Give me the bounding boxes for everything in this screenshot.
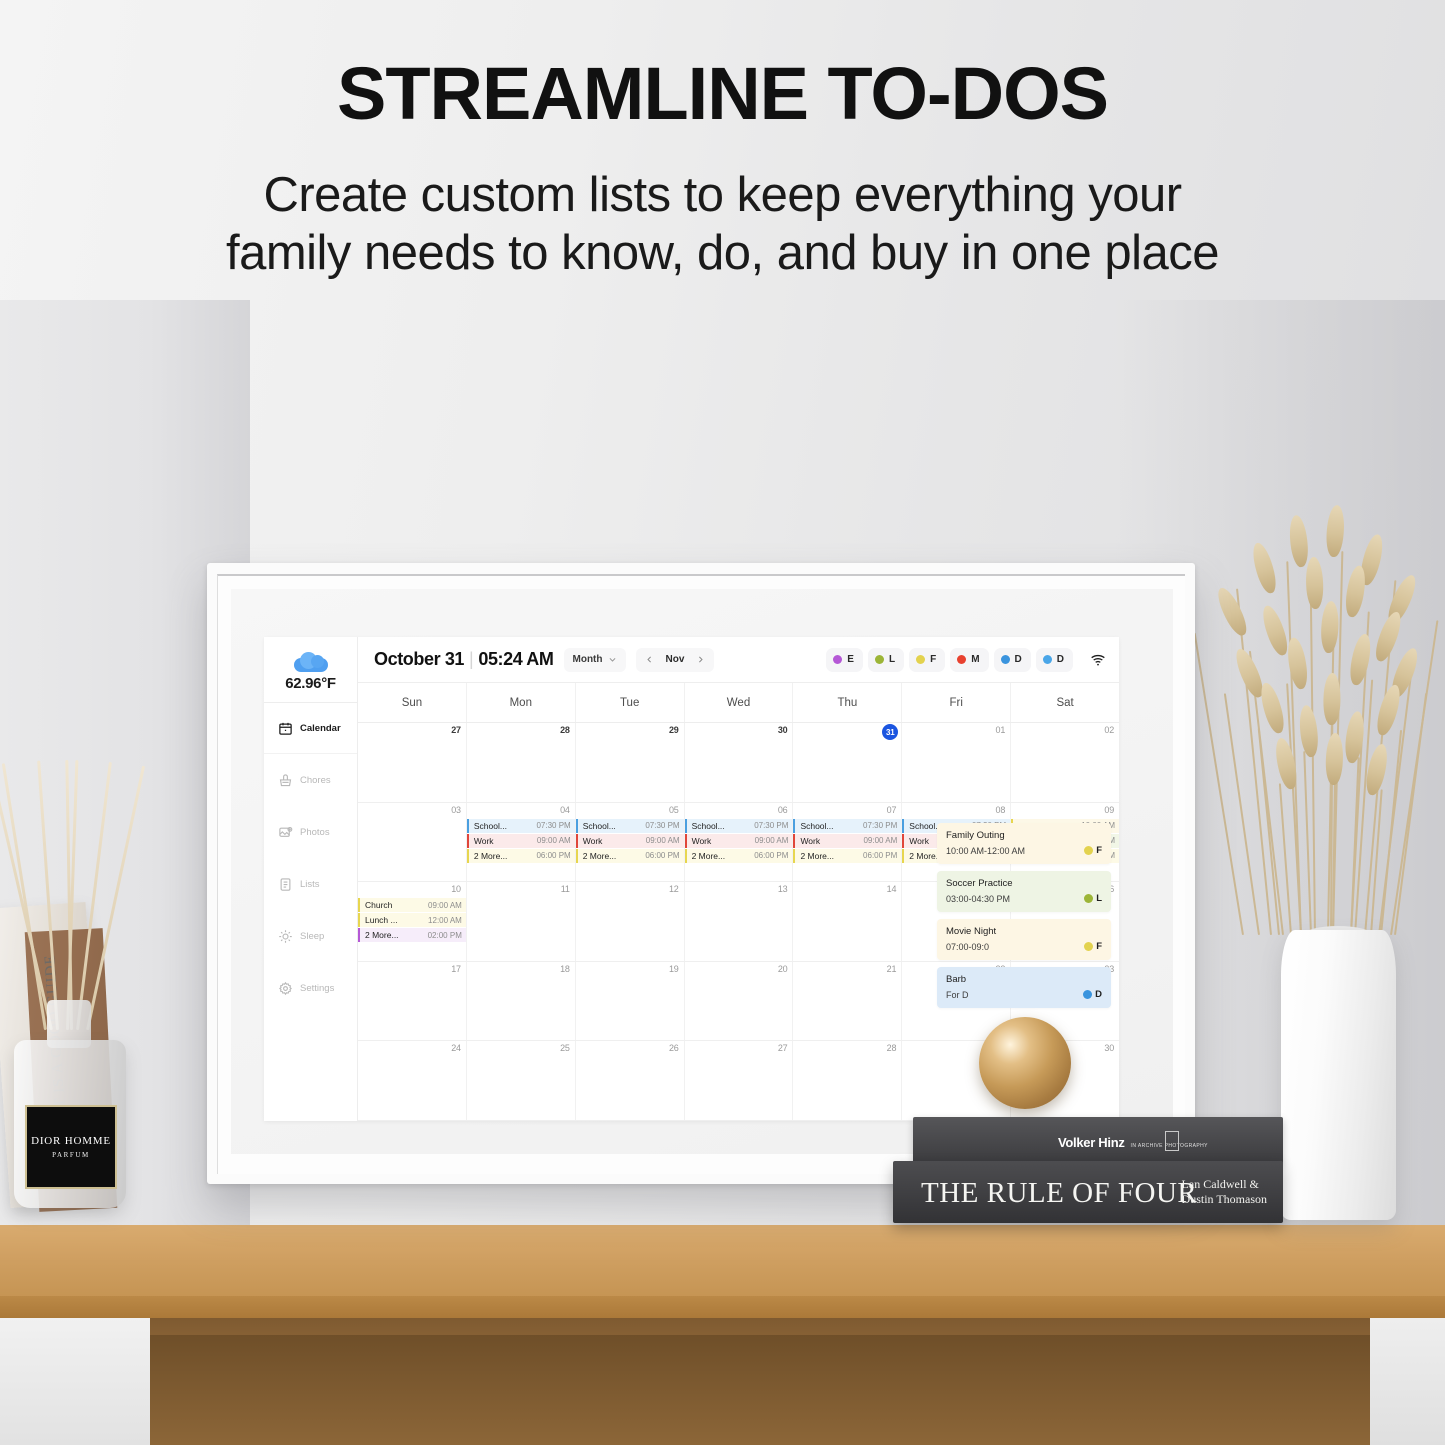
sidebar-item-label: Lists: [300, 879, 320, 890]
pampas-plume: [1320, 601, 1340, 654]
event-card-footer: 07:00-09:0F: [946, 941, 1102, 952]
day-number: 27: [451, 725, 461, 735]
settings-icon: [278, 981, 293, 996]
calendar-event[interactable]: Lunch ...12:00 AM: [358, 913, 466, 927]
day-number: 01: [996, 725, 1006, 735]
diffuser-brand: DIOR HOMME: [31, 1135, 111, 1147]
sidebar-item-calendar[interactable]: Calendar: [264, 702, 357, 754]
pampas-stem: [1303, 751, 1312, 935]
pampas-plume: [1325, 733, 1344, 786]
desk-right-panel: [1370, 1318, 1445, 1445]
event-time: 09:00 AM: [537, 836, 571, 845]
book-rule-of-four: THE RULE OF FOUR Lan Caldwell &Dustin Th…: [893, 1161, 1283, 1223]
day-event-list: School...07:30 PMWork09:00 AM2 More...06…: [576, 819, 684, 863]
event-time: 07:30 PM: [863, 821, 897, 830]
member-initial: D: [1057, 654, 1064, 665]
day-number-today: 31: [882, 724, 898, 740]
calendar-event[interactable]: Work09:00 AM: [685, 834, 793, 848]
day-number: 13: [778, 884, 788, 894]
lists-icon: [278, 877, 293, 892]
calendar-event[interactable]: School...07:30 PM: [576, 819, 684, 833]
member-chip[interactable]: D: [994, 648, 1031, 672]
event-time: 07:30 PM: [536, 821, 570, 830]
event-title: Work: [800, 836, 820, 846]
pampas-stem: [1394, 693, 1427, 935]
day-number: 10: [451, 884, 461, 894]
calendar-day-cell[interactable]: 14: [793, 882, 902, 961]
current-date-time: October 31|05:24 AM: [374, 649, 554, 670]
member-chip[interactable]: M: [950, 648, 988, 672]
temperature-label: 62.96°F: [285, 675, 336, 692]
book-stack: Volker Hinz IN ARCHIVE PHOTOGRAPHY THE R…: [893, 1117, 1283, 1227]
member-chip[interactable]: L: [868, 648, 904, 672]
pampas-plume: [1372, 609, 1406, 664]
book-spine-mark: [1165, 1131, 1179, 1151]
sleep-icon: [278, 929, 293, 944]
event-card-title: Barb: [946, 974, 1102, 985]
day-number: 08: [996, 805, 1006, 815]
member-initial: E: [847, 654, 854, 665]
subtitle-line-1: Create custom lists to keep everything y…: [0, 167, 1445, 225]
member-color-dot: [875, 655, 884, 664]
event-detail-panel: Family Outing10:00 AM-12:00 AMFSoccer Pr…: [937, 823, 1111, 1008]
view-selector[interactable]: Month: [564, 648, 626, 672]
calendar-day-cell[interactable]: 29: [576, 723, 685, 802]
calendar-day-cell[interactable]: 11: [467, 882, 576, 961]
pampas-plume: [1257, 681, 1288, 736]
page-subtitle: Create custom lists to keep everything y…: [0, 167, 1445, 283]
pampas-plume: [1249, 541, 1280, 596]
weekday-header-row: SunMonTueWedThuFriSat: [358, 683, 1119, 723]
calendar-event[interactable]: 2 More...06:00 PM: [467, 849, 575, 863]
calendar-event[interactable]: School...07:30 PM: [793, 819, 901, 833]
day-number: 24: [451, 1043, 461, 1053]
member-color-dot: [1043, 655, 1052, 664]
event-title: 2 More...: [365, 930, 399, 940]
member-color-dot: [957, 655, 966, 664]
calendar-day-cell[interactable]: 26: [576, 1041, 685, 1120]
date-time-separator: |: [469, 649, 473, 669]
day-number: 04: [560, 805, 570, 815]
event-card-footer: For DD: [946, 989, 1102, 1000]
event-time: 06:00 PM: [536, 851, 570, 860]
event-title: Work: [474, 836, 494, 846]
book-bottom-authors: Lan Caldwell &Dustin Thomason: [1182, 1177, 1267, 1207]
calendar-day-cell[interactable]: 07School...07:30 PMWork09:00 AM2 More...…: [793, 803, 902, 882]
calendar-event[interactable]: Work09:00 AM: [793, 834, 901, 848]
weekday-header: Tue: [576, 683, 685, 722]
event-card-footer: 03:00-04:30 PML: [946, 893, 1102, 904]
calendar-day-cell[interactable]: 06School...07:30 PMWork09:00 AM2 More...…: [685, 803, 794, 882]
current-date: October 31: [374, 649, 464, 669]
event-time: 06:00 PM: [645, 851, 679, 860]
event-card-member: F: [1084, 941, 1102, 952]
day-number: 20: [778, 964, 788, 974]
event-card[interactable]: BarbFor DD: [937, 967, 1111, 1008]
member-color-dot: [1084, 894, 1093, 903]
event-title: 2 More...: [800, 851, 834, 861]
calendar-day-cell[interactable]: 02: [1011, 723, 1119, 802]
book-volker-hinz: Volker Hinz IN ARCHIVE PHOTOGRAPHY: [913, 1117, 1283, 1165]
member-color-dot: [1001, 655, 1010, 664]
calendar-day-cell[interactable]: 28: [467, 723, 576, 802]
chevron-right-icon: [696, 655, 705, 664]
pampas-plume: [1259, 603, 1292, 658]
event-time: 09:00 AM: [755, 836, 789, 845]
calendar-day-cell[interactable]: 12: [576, 882, 685, 961]
event-card-title: Family Outing: [946, 830, 1102, 841]
pampas-stem: [1236, 589, 1272, 936]
event-title: Work: [909, 836, 929, 846]
event-title: Work: [692, 836, 712, 846]
sidebar-item-label: Calendar: [300, 723, 341, 734]
day-number: 30: [1104, 1043, 1114, 1053]
event-card-member: D: [1083, 989, 1102, 1000]
event-card[interactable]: Soccer Practice03:00-04:30 PML: [937, 871, 1111, 912]
calendar-day-cell[interactable]: 31: [793, 723, 902, 802]
calendar-day-cell[interactable]: 17: [358, 962, 467, 1041]
member-color-dot: [1084, 846, 1093, 855]
calendar-week-row: 27282930310102: [358, 723, 1119, 803]
calendar-day-cell[interactable]: 05School...07:30 PMWork09:00 AM2 More...…: [576, 803, 685, 882]
event-card-time: 10:00 AM-12:00 AM: [946, 846, 1025, 856]
sidebar-item-lists[interactable]: Lists: [264, 858, 357, 910]
white-vase: [1281, 930, 1396, 1220]
day-number: 28: [560, 725, 570, 735]
member-color-dot: [1083, 990, 1092, 999]
wifi-icon[interactable]: [1089, 652, 1107, 668]
event-time: 09:00 AM: [863, 836, 897, 845]
calendar-event[interactable]: 2 More...06:00 PM: [793, 849, 901, 863]
day-number: 19: [669, 964, 679, 974]
day-number: 12: [669, 884, 679, 894]
calendar-day-cell[interactable]: 01: [902, 723, 1011, 802]
event-card[interactable]: Family Outing10:00 AM-12:00 AMF: [937, 823, 1111, 864]
event-time: 06:00 PM: [754, 851, 788, 860]
event-title: 2 More...: [583, 851, 617, 861]
day-number: 18: [560, 964, 570, 974]
sidebar-item-chores[interactable]: Chores: [264, 754, 357, 806]
event-card[interactable]: Movie Night07:00-09:0F: [937, 919, 1111, 960]
pampas-plume: [1325, 505, 1346, 558]
diffuser-label: DIOR HOMME PARFUM: [25, 1105, 117, 1189]
event-card-footer: 10:00 AM-12:00 AMF: [946, 845, 1102, 856]
pampas-plume: [1343, 710, 1366, 764]
member-chip[interactable]: D: [1036, 648, 1073, 672]
event-title: School...: [583, 821, 616, 831]
event-card-time: 07:00-09:0: [946, 942, 989, 952]
event-title: School...: [474, 821, 507, 831]
day-number: 28: [887, 1043, 897, 1053]
calendar-event[interactable]: School...07:30 PM: [467, 819, 575, 833]
cloud-icon: [291, 651, 331, 673]
chevron-left-icon: [645, 655, 654, 664]
day-number: 02: [1104, 725, 1114, 735]
event-title: Work: [583, 836, 603, 846]
event-title: 2 More...: [692, 851, 726, 861]
calendar-event[interactable]: 2 More...06:00 PM: [576, 849, 684, 863]
pampas-plume: [1285, 636, 1310, 690]
topbar: October 31|05:24 AM Month Nov: [358, 637, 1119, 683]
pampas-plume: [1347, 632, 1374, 686]
day-number: 30: [778, 725, 788, 735]
calendar-day-cell[interactable]: 18: [467, 962, 576, 1041]
day-number: 14: [887, 884, 897, 894]
weather-widget[interactable]: 62.96°F: [264, 637, 357, 700]
desk-left-panel: [0, 1318, 150, 1445]
event-title: Lunch ...: [365, 915, 398, 925]
day-number: 17: [451, 964, 461, 974]
day-number: 26: [669, 1043, 679, 1053]
day-number: 03: [451, 805, 461, 815]
day-event-list: Church09:00 AMLunch ...12:00 AM2 More...…: [358, 898, 466, 942]
subtitle-line-2: family needs to know, do, and buy in one…: [0, 225, 1445, 283]
event-card-time: For D: [946, 990, 969, 1000]
event-title: 2 More...: [474, 851, 508, 861]
calendar-day-cell[interactable]: 25: [467, 1041, 576, 1120]
event-title: School...: [692, 821, 725, 831]
event-title: School...: [800, 821, 833, 831]
month-label: Nov: [662, 654, 689, 665]
day-number: 07: [887, 805, 897, 815]
member-initial: F: [930, 654, 936, 665]
event-time: 09:00 AM: [646, 836, 680, 845]
sidebar-item-label: Chores: [300, 775, 331, 786]
weekday-header: Thu: [793, 683, 902, 722]
calendar-day-cell[interactable]: 27: [358, 723, 467, 802]
event-title: Church: [365, 900, 392, 910]
day-number: 21: [887, 964, 897, 974]
pampas-plume: [1298, 704, 1320, 757]
sidebar-item-sleep[interactable]: Sleep: [264, 910, 357, 962]
day-event-list: School...07:30 PMWork09:00 AM2 More...06…: [467, 819, 575, 863]
member-color-dot: [833, 655, 842, 664]
desk-shelf-inner: [150, 1335, 1375, 1445]
diffuser-subtitle: PARFUM: [52, 1151, 90, 1159]
pampas-plume: [1288, 514, 1310, 567]
event-time: 09:00 AM: [428, 901, 462, 910]
calendar-day-cell[interactable]: 10Church09:00 AMLunch ...12:00 AM2 More.…: [358, 882, 467, 961]
book-author-line: Dustin Thomason: [1182, 1192, 1267, 1207]
sidebar-nav: Calendar Chores Photos: [264, 700, 357, 1014]
calendar-event[interactable]: Work09:00 AM: [576, 834, 684, 848]
member-color-dot: [916, 655, 925, 664]
member-initial: L: [889, 654, 895, 665]
chores-icon: [278, 773, 293, 788]
sidebar-item-label: Settings: [300, 983, 334, 994]
day-number: 25: [560, 1043, 570, 1053]
chevron-down-icon: [608, 655, 617, 664]
day-number: 11: [561, 884, 570, 894]
current-time: 05:24 AM: [478, 649, 553, 669]
weekday-header: Wed: [685, 683, 794, 722]
calendar-day-cell[interactable]: 28: [793, 1041, 902, 1120]
event-card-member: F: [1084, 845, 1102, 856]
day-event-list: School...07:30 PMWork09:00 AM2 More...06…: [685, 819, 793, 863]
marketing-copy: STREAMLINE TO-DOS Create custom lists to…: [0, 55, 1445, 282]
pampas-grass: [1175, 505, 1445, 945]
day-number: 29: [669, 725, 679, 735]
photos-icon: [278, 825, 293, 840]
event-card-title: Movie Night: [946, 926, 1102, 937]
member-initial: D: [1015, 654, 1022, 665]
weekday-header: Mon: [467, 683, 576, 722]
pampas-plume: [1343, 564, 1368, 618]
day-number: 06: [778, 805, 788, 815]
pampas-stem: [1310, 603, 1316, 935]
pampas-plume: [1213, 585, 1251, 639]
event-time: 06:00 PM: [863, 851, 897, 860]
member-chip[interactable]: E: [826, 648, 863, 672]
calendar-day-cell[interactable]: 03: [358, 803, 467, 882]
calendar-event[interactable]: Church09:00 AM: [358, 898, 466, 912]
sidebar-item-settings[interactable]: Settings: [264, 962, 357, 1014]
sidebar-item-label: Sleep: [300, 931, 324, 942]
member-filter-list: ELFMDD: [826, 648, 1073, 672]
sidebar-item-photos[interactable]: Photos: [264, 806, 357, 858]
weekday-header: Sun: [358, 683, 467, 722]
calendar-day-cell[interactable]: 19: [576, 962, 685, 1041]
event-time: 02:00 PM: [428, 931, 462, 940]
month-navigator: Nov: [636, 648, 715, 672]
weekday-header: Sat: [1011, 683, 1119, 722]
member-chip[interactable]: F: [909, 648, 945, 672]
calendar-event[interactable]: 2 More...06:00 PM: [685, 849, 793, 863]
weekday-header: Fri: [902, 683, 1011, 722]
book-bottom-title: THE RULE OF FOUR: [921, 1177, 1197, 1210]
calendar-icon: [278, 721, 293, 736]
pampas-stem: [1224, 693, 1260, 935]
sidebar: 62.96°F Calendar Chores: [264, 637, 358, 1121]
calendar-day-cell[interactable]: 27: [685, 1041, 794, 1120]
event-time: 12:00 AM: [428, 916, 462, 925]
page-title: STREAMLINE TO-DOS: [0, 55, 1445, 133]
member-initial: M: [971, 654, 979, 665]
book-top-title: Volker Hinz: [1058, 1135, 1125, 1150]
event-card-member: L: [1084, 893, 1102, 904]
calendar-day-cell[interactable]: 30: [685, 723, 794, 802]
calendar-event[interactable]: Work09:00 AM: [467, 834, 575, 848]
calendar-day-cell[interactable]: 20: [685, 962, 794, 1041]
brass-sphere-ornament: [979, 1017, 1071, 1109]
sidebar-item-label: Photos: [300, 827, 330, 838]
pampas-plume: [1305, 557, 1324, 610]
calendar-day-cell[interactable]: 24: [358, 1041, 467, 1120]
day-number: 27: [778, 1043, 788, 1053]
day-number: 09: [1104, 805, 1114, 815]
calendar-day-cell[interactable]: 21: [793, 962, 902, 1041]
event-time: 07:30 PM: [645, 821, 679, 830]
next-month-button[interactable]: [690, 650, 710, 670]
event-time: 07:30 PM: [754, 821, 788, 830]
view-selector-label: Month: [573, 654, 603, 665]
day-event-list: School...07:30 PMWork09:00 AM2 More...06…: [793, 819, 901, 863]
event-card-title: Soccer Practice: [946, 878, 1102, 889]
member-color-dot: [1084, 942, 1093, 951]
calendar-day-cell[interactable]: 04School...07:30 PMWork09:00 AM2 More...…: [467, 803, 576, 882]
day-number: 05: [669, 805, 679, 815]
event-card-time: 03:00-04:30 PM: [946, 894, 1010, 904]
calendar-event[interactable]: 2 More...02:00 PM: [358, 928, 466, 942]
calendar-event[interactable]: School...07:30 PM: [685, 819, 793, 833]
book-author-line: Lan Caldwell &: [1182, 1177, 1267, 1192]
prev-month-button[interactable]: [640, 650, 660, 670]
calendar-day-cell[interactable]: 13: [685, 882, 794, 961]
